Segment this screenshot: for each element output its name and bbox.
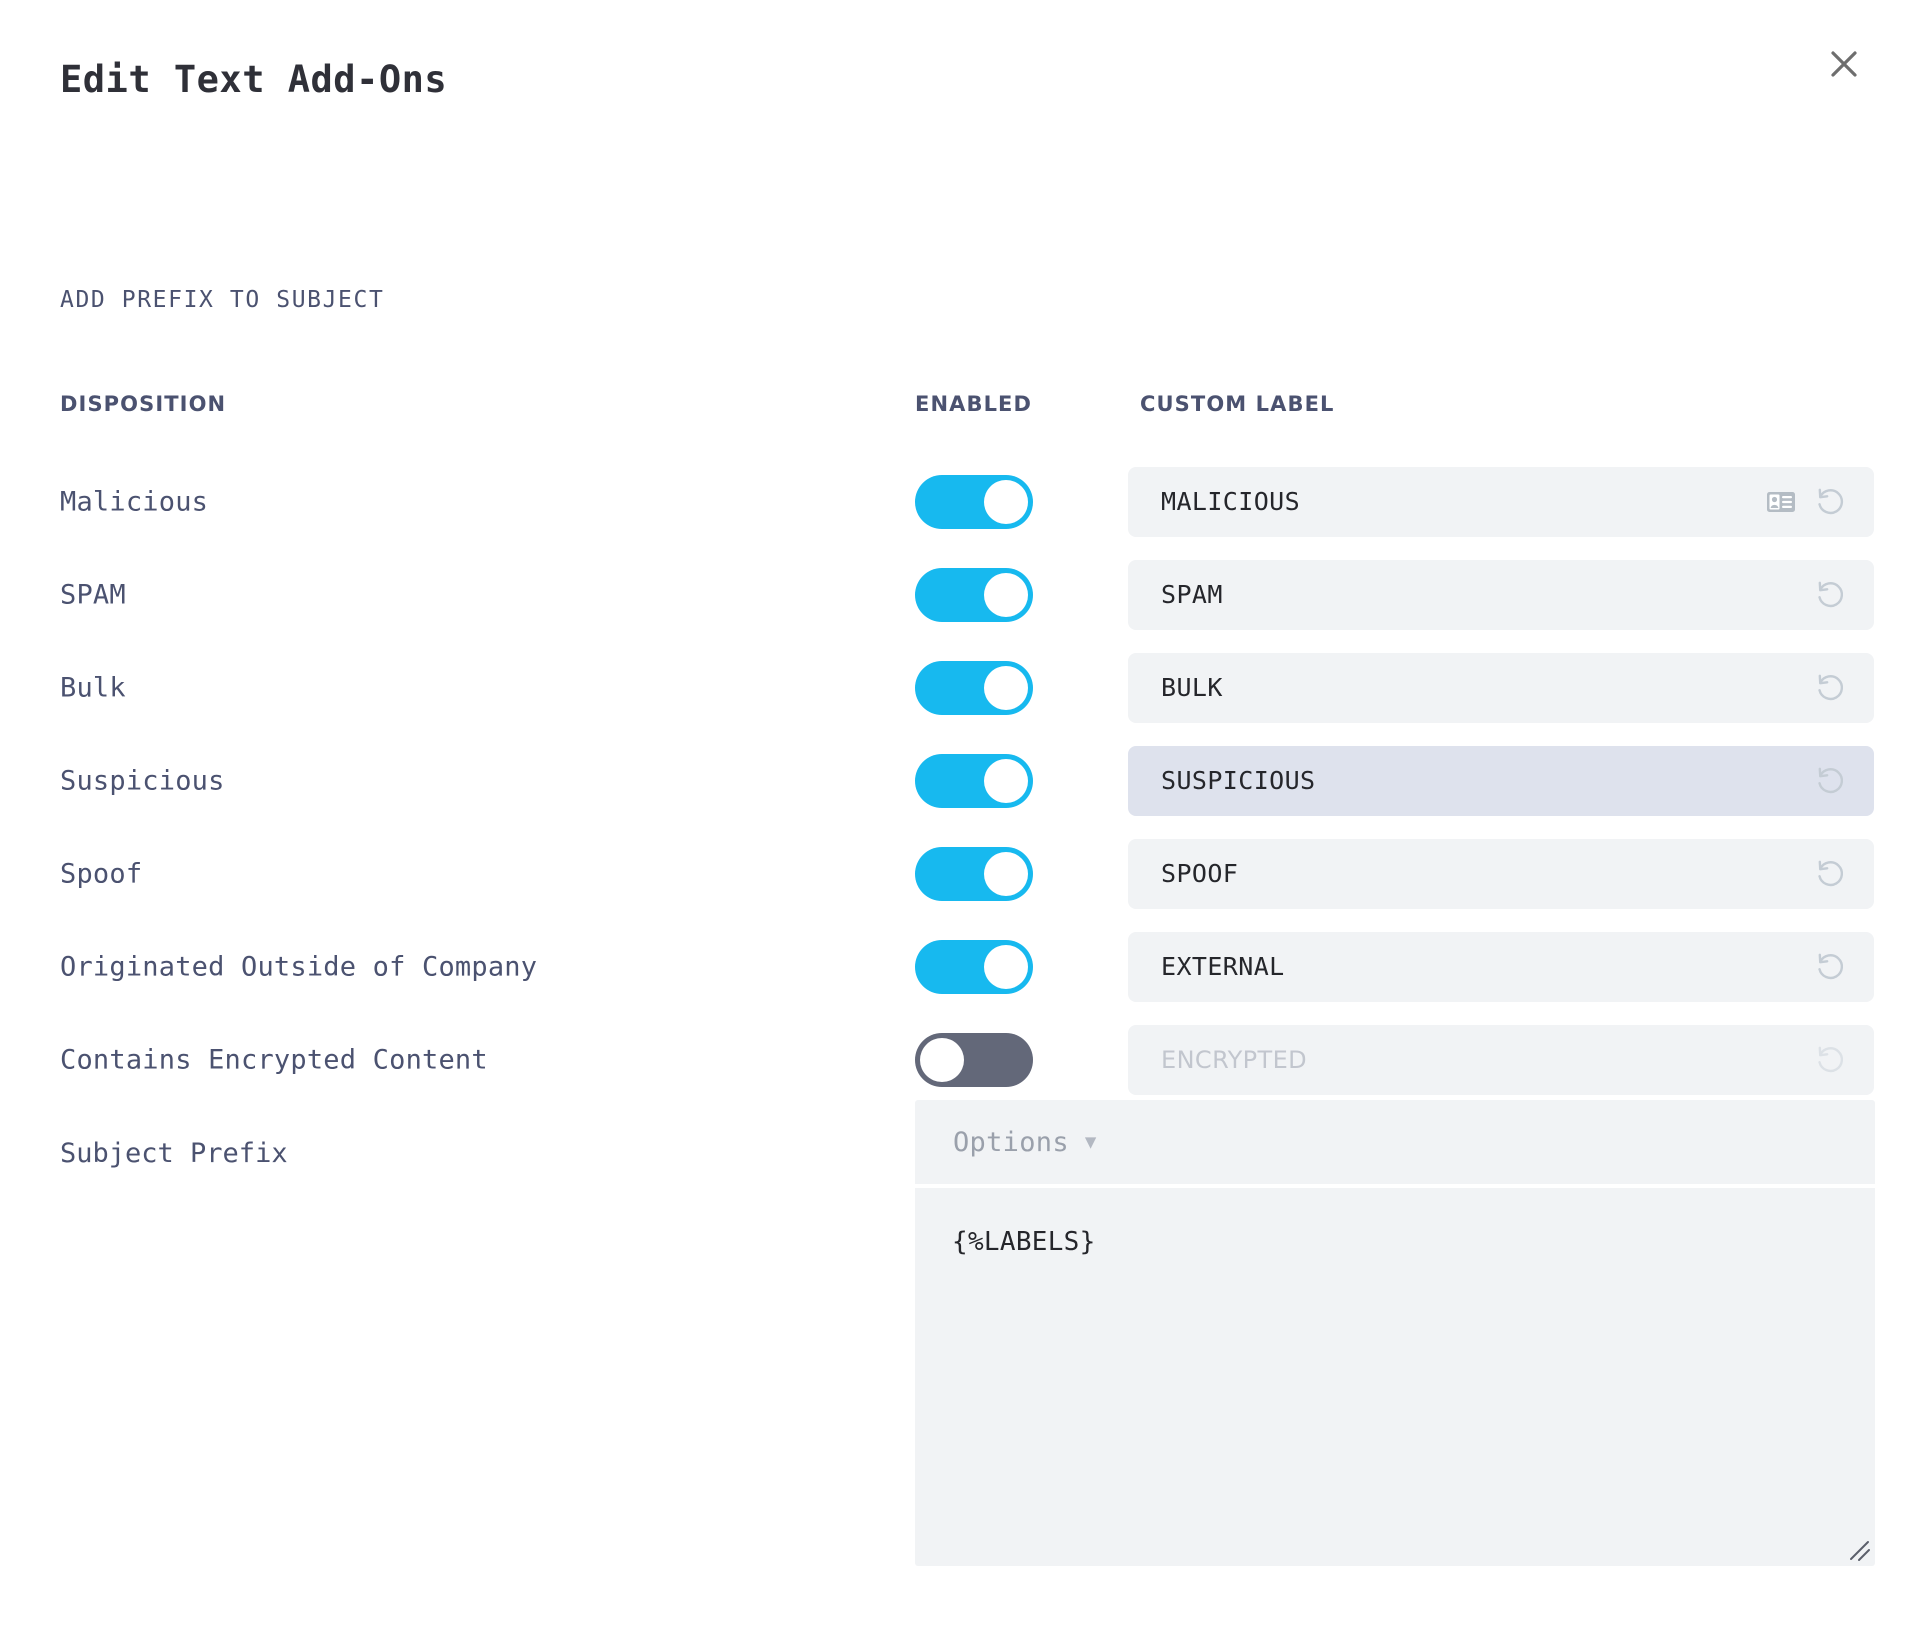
toggle-knob [984, 852, 1028, 896]
toggle-knob [920, 1038, 964, 1082]
reset-icon[interactable] [1814, 857, 1848, 891]
toggle-knob [984, 759, 1028, 803]
section-label-add-prefix-to-subject: ADD PREFIX TO SUBJECT [60, 287, 384, 313]
enabled-toggle[interactable] [915, 754, 1033, 808]
enabled-toggle[interactable] [915, 847, 1033, 901]
custom-label-value: BULK [1128, 673, 1814, 702]
options-dropdown-label: Options [915, 1127, 1069, 1158]
custom-label-input[interactable]: BULK [1128, 653, 1874, 723]
table-row: SpoofSPOOF [0, 827, 1908, 920]
column-header-enabled: ENABLED [915, 392, 1032, 416]
subject-prefix-textarea-value: {%LABELS} [952, 1227, 1096, 1257]
column-header-custom-label: CUSTOM LABEL [1140, 392, 1335, 416]
custom-label-value: ENCRYPTED [1128, 1046, 1814, 1074]
field-icon-group [1814, 578, 1874, 612]
enabled-toggle[interactable] [915, 568, 1033, 622]
field-icon-group [1814, 857, 1874, 891]
custom-label-value: EXTERNAL [1128, 952, 1814, 981]
reset-icon[interactable] [1814, 950, 1848, 984]
reset-icon[interactable] [1814, 671, 1848, 705]
table-row: SPAMSPAM [0, 548, 1908, 641]
table-row: Contains Encrypted ContentENCRYPTED [0, 1013, 1908, 1106]
custom-label-input[interactable]: SUSPICIOUS [1128, 746, 1874, 816]
resize-handle-icon[interactable] [1846, 1537, 1872, 1563]
custom-label-input[interactable]: EXTERNAL [1128, 932, 1874, 1002]
custom-label-input[interactable]: SPOOF [1128, 839, 1874, 909]
custom-label-input[interactable]: MALICIOUS [1128, 467, 1874, 537]
enabled-toggle[interactable] [915, 940, 1033, 994]
toggle-knob [984, 573, 1028, 617]
enabled-toggle[interactable] [915, 475, 1033, 529]
disposition-label: Contains Encrypted Content [60, 1044, 488, 1075]
reset-icon[interactable] [1814, 485, 1848, 519]
close-icon [1827, 47, 1861, 81]
dialog-header: Edit Text Add-Ons [0, 0, 1908, 160]
table-row: MaliciousMALICIOUS [0, 455, 1908, 548]
field-icon-group [1814, 950, 1874, 984]
enabled-toggle[interactable] [915, 1033, 1033, 1087]
custom-label-value: MALICIOUS [1128, 487, 1764, 516]
custom-label-value: SPAM [1128, 580, 1814, 609]
disposition-label: SPAM [60, 579, 126, 610]
field-icon-group [1814, 764, 1874, 798]
reset-icon [1814, 1043, 1848, 1077]
reset-icon[interactable] [1814, 578, 1848, 612]
subject-prefix-label: Subject Prefix [60, 1138, 288, 1169]
custom-label-input[interactable]: SPAM [1128, 560, 1874, 630]
close-button[interactable] [1816, 36, 1872, 92]
subject-prefix-row: Subject Prefix Options ▼ [0, 1098, 1908, 1188]
custom-label-value: SPOOF [1128, 859, 1814, 888]
toggle-knob [984, 480, 1028, 524]
reset-icon[interactable] [1814, 764, 1848, 798]
table-row: Originated Outside of CompanyEXTERNAL [0, 920, 1908, 1013]
custom-label-input: ENCRYPTED [1128, 1025, 1874, 1095]
page-title: Edit Text Add-Ons [60, 58, 447, 101]
contact-card-icon[interactable] [1764, 485, 1798, 519]
options-dropdown[interactable]: Options ▼ [915, 1100, 1875, 1184]
toggle-knob [984, 945, 1028, 989]
disposition-label: Bulk [60, 672, 126, 703]
column-header-disposition: DISPOSITION [60, 392, 226, 416]
enabled-toggle[interactable] [915, 661, 1033, 715]
chevron-down-icon: ▼ [1085, 1133, 1096, 1152]
table-row: BulkBULK [0, 641, 1908, 734]
toggle-knob [984, 666, 1028, 710]
disposition-rows: MaliciousMALICIOUSSPAMSPAMBulkBULKSuspic… [0, 455, 1908, 1106]
field-icon-group [1814, 1043, 1874, 1077]
disposition-label: Suspicious [60, 765, 225, 796]
disposition-label: Malicious [60, 486, 208, 517]
field-icon-group [1764, 485, 1874, 519]
subject-prefix-textarea[interactable]: {%LABELS} [915, 1188, 1875, 1566]
disposition-label: Originated Outside of Company [60, 951, 537, 982]
edit-text-addons-dialog: Edit Text Add-Ons ADD PREFIX TO SUBJECT … [0, 0, 1908, 1650]
field-icon-group [1814, 671, 1874, 705]
disposition-label: Spoof [60, 858, 142, 889]
custom-label-value: SUSPICIOUS [1128, 766, 1814, 795]
table-row: SuspiciousSUSPICIOUS [0, 734, 1908, 827]
